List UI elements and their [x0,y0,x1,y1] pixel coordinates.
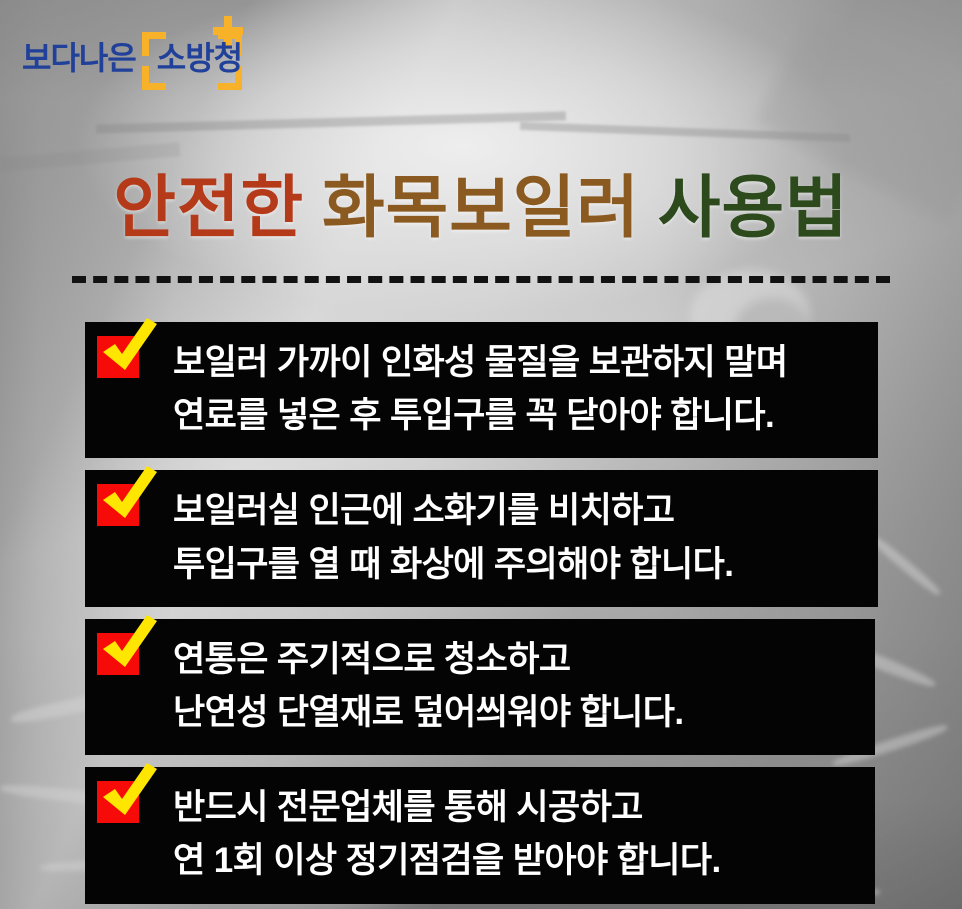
list-item-line2: 연료를 넣은 후 투입구를 꼭 닫아야 합니다. [173,389,862,442]
safety-checklist: 보일러 가까이 인화성 물질을 보관하지 말며 연료를 넣은 후 투입구를 꼭 … [85,322,878,909]
title-divider [72,276,890,283]
checkmark-glyph [95,613,161,679]
checkbox-checked-icon [97,781,139,823]
checkmark-glyph [95,464,161,530]
page-title: 안전한화목보일러사용법 [0,174,962,242]
list-item-line1: 연통은 주기적으로 청소하고 [173,633,859,686]
list-item-line1: 반드시 전문업체를 통해 시공하고 [173,781,859,834]
logo-prefix: 보다나은 [22,40,136,76]
checkbox-checked-icon [97,633,139,675]
list-item-line2: 난연성 단열재로 덮어씌워야 합니다. [173,686,859,739]
title-part-wood-boiler: 화목보일러 [322,170,640,246]
logo-plus-icon [213,27,243,35]
checkmark-glyph [95,761,161,827]
list-item: 반드시 전문업체를 통해 시공하고 연 1회 이상 정기점검을 받아야 합니다. [85,767,875,903]
logo-text: 보다나은소방청 [22,42,242,74]
list-item-line1: 보일러 가까이 인화성 물질을 보관하지 말며 [173,336,862,389]
list-item: 연통은 주기적으로 청소하고 난연성 단열재로 덮어씌워야 합니다. [85,619,875,755]
list-item: 보일러실 인근에 소화기를 비치하고 투입구를 열 때 화상에 주의해야 합니다… [85,470,878,606]
checkmark-glyph [95,316,161,382]
list-item: 보일러 가까이 인화성 물질을 보관하지 말며 연료를 넣은 후 투입구를 꼭 … [85,322,878,458]
list-item-line2: 투입구를 열 때 화상에 주의해야 합니다. [173,538,862,591]
list-item-line2: 연 1회 이상 정기점검을 받아야 합니다. [173,834,859,887]
title-part-usage: 사용법 [658,170,849,246]
fire-agency-logo: 보다나은소방청 [20,14,250,96]
list-item-line1: 보일러실 인근에 소화기를 비치하고 [173,484,862,537]
checkbox-checked-icon [97,336,139,378]
logo-agency-name: 소방청 [157,40,242,76]
poster-root: 보다나은소방청 안전한화목보일러사용법 보일러 가까이 인화성 물질을 보관하지… [0,0,962,909]
title-part-safe: 안전한 [113,170,304,246]
checkbox-checked-icon [97,484,139,526]
